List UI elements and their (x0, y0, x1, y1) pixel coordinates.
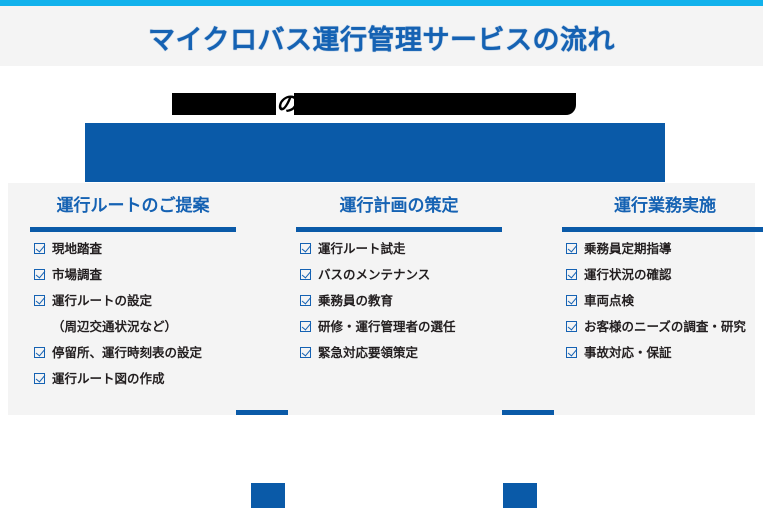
process-column-route-proposal: 運行ルートのご提案 現地踏査 市場調査 運行ルートの設定 （周辺交通状況など） … (22, 183, 244, 225)
list-item[interactable]: 研修・運行管理者の選任 (300, 319, 510, 335)
checkbox-icon (566, 321, 577, 332)
list-item[interactable]: 乗務員定期指導 (566, 241, 763, 257)
checkbox-icon (566, 347, 577, 358)
subtitle-redacted: の (172, 90, 602, 118)
subtitle-visible-char: の (276, 90, 294, 118)
list-item-label: 研修・運行管理者の選任 (318, 319, 456, 335)
list-item[interactable]: 事故対応・保証 (566, 345, 763, 361)
checkbox-icon (566, 269, 577, 280)
checkbox-icon (300, 347, 311, 358)
column-title: 運行ルートのご提案 (22, 183, 244, 225)
column-title: 運行業務実施 (554, 183, 763, 225)
list-item-label: （周辺交通状況など） (52, 319, 177, 335)
list-item[interactable]: お客様のニーズの調査・研究 (566, 319, 763, 335)
list-item-label: 現地踏査 (52, 241, 102, 257)
checkbox-icon (300, 243, 311, 254)
checkbox-icon (300, 321, 311, 332)
list-item[interactable]: 乗務員の教育 (300, 293, 510, 309)
list-item-label: 乗務員定期指導 (584, 241, 672, 257)
column-underline (296, 227, 502, 232)
list-item[interactable]: 運行ルート試走 (300, 241, 510, 257)
title-band: マイクロバス運行管理サービスの流れ (0, 6, 763, 66)
checkbox-icon (34, 373, 45, 384)
list-item-label: 停留所、運行時刻表の設定 (52, 345, 202, 361)
checkbox-icon (34, 243, 45, 254)
process-column-plan-formulation: 運行計画の策定 運行ルート試走 バスのメンテナンス 乗務員の教育 研修・運行管理… (288, 183, 510, 225)
subtitle-redaction-right (294, 93, 576, 115)
list-item[interactable]: 運行ルートの設定 (34, 293, 244, 309)
checkbox-icon (300, 269, 311, 280)
list-item[interactable]: 車両点検 (566, 293, 763, 309)
list-item-label: バスのメンテナンス (318, 267, 430, 283)
column-title: 運行計画の策定 (288, 183, 510, 225)
list-item[interactable]: 現地踏査 (34, 241, 244, 257)
process-column-operation-execution: 運行業務実施 乗務員定期指導 運行状況の確認 車両点検 お客様のニーズの調査・研… (554, 183, 763, 225)
checkbox-icon (566, 295, 577, 306)
process-panel: 運行ルートのご提案 現地踏査 市場調査 運行ルートの設定 （周辺交通状況など） … (8, 183, 755, 415)
list-item[interactable]: バスのメンテナンス (300, 267, 510, 283)
list-item-label: お客様のニーズの調査・研究 (584, 319, 746, 335)
list-item-label: 運行状況の確認 (584, 267, 672, 283)
column-underline (562, 227, 763, 232)
list-item-label: 運行ルートの設定 (52, 293, 152, 309)
checkbox-icon (300, 295, 311, 306)
column-underline (30, 227, 236, 232)
page-title: マイクロバス運行管理サービスの流れ (0, 18, 763, 57)
list-item[interactable]: 運行状況の確認 (566, 267, 763, 283)
list-item-label: 事故対応・保証 (584, 345, 672, 361)
list-item[interactable]: 市場調査 (34, 267, 244, 283)
list-item-label: 緊急対応要領策定 (318, 345, 418, 361)
list-item-label: 運行ルート図の作成 (52, 371, 165, 387)
blue-banner (85, 123, 665, 182)
column-item-list: 運行ルート試走 バスのメンテナンス 乗務員の教育 研修・運行管理者の選任 緊急対… (300, 241, 510, 371)
bottom-spacer (0, 415, 763, 423)
subtitle-redaction-left (172, 93, 276, 115)
list-item[interactable]: 緊急対応要領策定 (300, 345, 510, 361)
checkbox-icon (34, 269, 45, 280)
list-item[interactable]: 運行ルート図の作成 (34, 371, 244, 387)
flow-connector-1 (251, 483, 285, 508)
list-item-label: 市場調査 (52, 267, 102, 283)
list-item-label: 乗務員の教育 (318, 293, 393, 309)
column-item-list: 現地踏査 市場調査 運行ルートの設定 （周辺交通状況など） 停留所、運行時刻表の… (34, 241, 244, 397)
flow-connector-2 (503, 483, 537, 508)
list-item-sub-note: （周辺交通状況など） (34, 319, 244, 335)
list-item[interactable]: 停留所、運行時刻表の設定 (34, 345, 244, 361)
column-item-list: 乗務員定期指導 運行状況の確認 車両点検 お客様のニーズの調査・研究 事故対応・… (566, 241, 763, 371)
checkbox-icon (34, 295, 45, 306)
checkbox-icon (566, 243, 577, 254)
list-item-label: 車両点検 (584, 293, 634, 309)
list-item-label: 運行ルート試走 (318, 241, 406, 257)
checkbox-icon (34, 347, 45, 358)
